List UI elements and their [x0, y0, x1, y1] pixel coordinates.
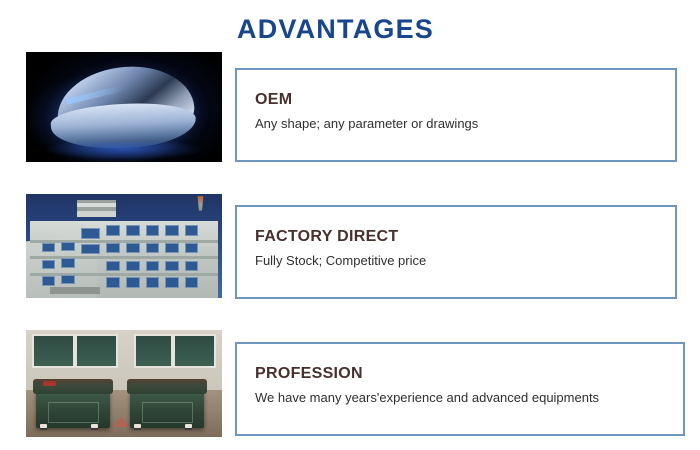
advantage-description: Fully Stock; Competitive price — [255, 252, 675, 269]
advantage-title: OEM — [255, 90, 675, 110]
advantage-image-factory — [26, 194, 222, 298]
workshop-scene — [26, 330, 222, 437]
advantage-description: We have many years'experience and advanc… — [255, 389, 683, 406]
advantage-row: PROFESSION We have many years'experience… — [0, 330, 700, 438]
page-title: ADVANTAGES — [237, 13, 434, 45]
machine-unit — [130, 392, 204, 428]
machine-panel — [142, 402, 193, 424]
rooftop-antenna — [191, 196, 211, 211]
machine-head — [127, 379, 207, 394]
building-signage — [50, 287, 101, 294]
advantage-image-lens — [26, 52, 222, 162]
advantage-card-oem: OEM Any shape; any parameter or drawings — [235, 68, 677, 162]
advantage-image-workshop — [26, 330, 222, 437]
machine-panel — [48, 402, 99, 424]
machine-unit — [36, 392, 110, 428]
machine-red-part — [43, 381, 56, 386]
lens-scene — [26, 52, 222, 162]
advantage-card-profession: PROFESSION We have many years'experience… — [235, 342, 685, 436]
advantage-title: FACTORY DIRECT — [255, 227, 675, 247]
advantage-title: PROFESSION — [255, 364, 683, 384]
advantages-page: { "header": { "title": "ADVANTAGES", "ti… — [0, 0, 700, 450]
advantage-card-factory-direct: FACTORY DIRECT Fully Stock; Competitive … — [235, 205, 677, 299]
advantage-row: OEM Any shape; any parameter or drawings — [0, 52, 700, 164]
building-scene — [26, 194, 222, 298]
lens-glow — [46, 142, 203, 160]
building-tower — [77, 200, 116, 217]
advantage-description: Any shape; any parameter or drawings — [255, 115, 675, 132]
advantage-row: FACTORY DIRECT Fully Stock; Competitive … — [0, 194, 700, 300]
